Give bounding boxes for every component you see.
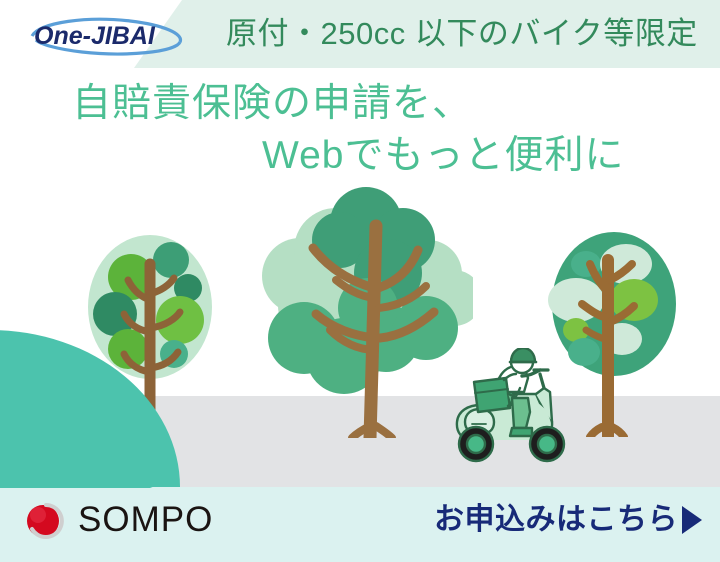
headline-line-1: 自賠責保険の申請を、	[0, 78, 720, 130]
delivery-scooter-rider	[448, 348, 578, 471]
headline: 自賠責保険の申請を、 Webでもっと便利に	[0, 78, 720, 182]
rider-foot	[510, 428, 532, 436]
sompo-wordmark: SOMPO	[78, 498, 213, 542]
sompo-brand: SOMPO	[22, 498, 213, 542]
promotional-banner: One-JIBAI 原付・250cc 以下のバイク等限定 自賠責保険の申請を、 …	[0, 0, 720, 562]
apply-now-button[interactable]: お申込みはこちら	[434, 500, 702, 540]
cta-label: お申込みはこちら	[434, 500, 678, 540]
sompo-logo-icon	[22, 498, 66, 542]
header: One-JIBAI 原付・250cc 以下のバイク等限定	[0, 0, 720, 68]
logo-text: One-JIBAI	[34, 22, 156, 50]
tree-left-leaf	[156, 296, 204, 344]
arrow-right-icon	[682, 506, 702, 534]
tree-left-leaf	[153, 242, 189, 278]
delivery-box	[474, 378, 510, 412]
illustration-scene	[0, 0, 720, 487]
rider-helmet	[511, 348, 535, 362]
tree-center	[258, 178, 473, 438]
headline-line-2: Webでもっと便利に	[0, 130, 720, 182]
one-jibai-logo: One-JIBAI	[18, 14, 193, 58]
header-title: 原付・250cc 以下のバイク等限定	[226, 8, 712, 60]
rider-leg-fill	[512, 398, 530, 428]
